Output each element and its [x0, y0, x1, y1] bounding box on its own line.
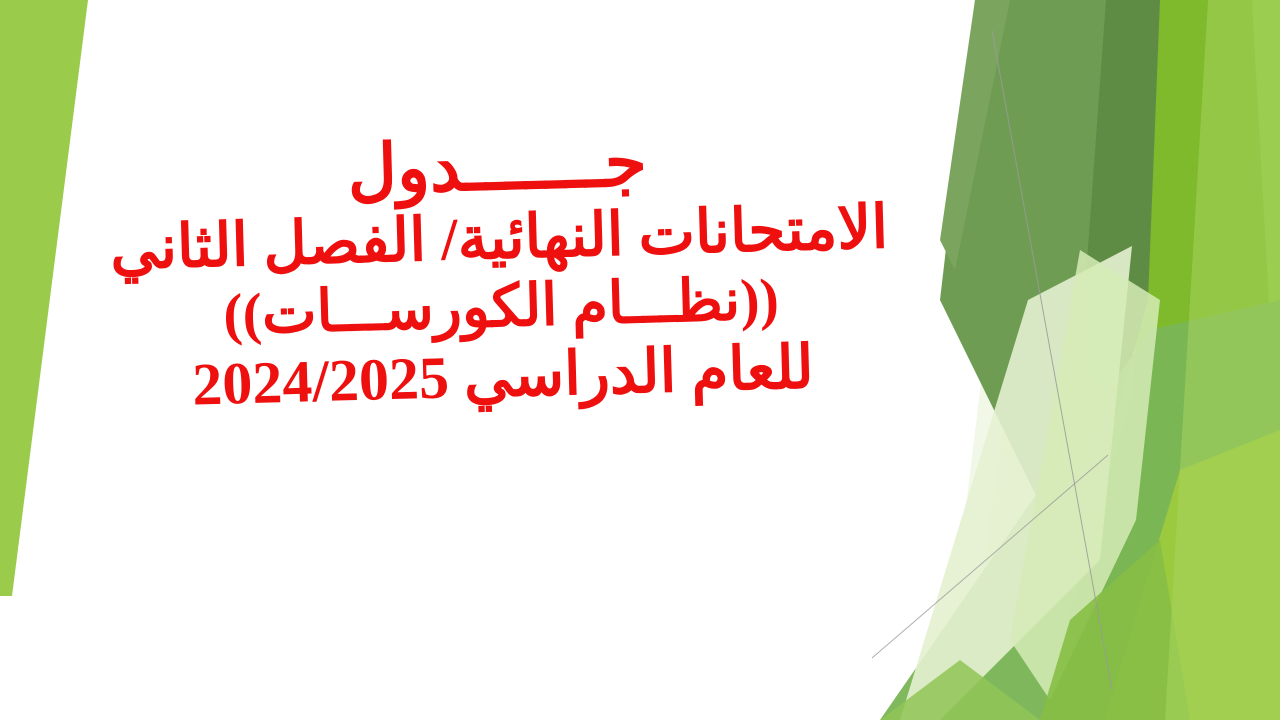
diagonal-hairline-steep	[992, 30, 1112, 690]
facet-right-veil	[1165, 0, 1280, 720]
slide-title-block: جـــــــدول الامتحانات النهائية/ الفصل ا…	[56, 120, 943, 418]
facet-dark-edge-sliver	[940, 0, 1010, 270]
facet-bottom-left-wash	[880, 660, 1040, 720]
facet-top-dark-wedge	[940, 0, 1160, 520]
diagonal-hairline-shallow	[872, 455, 1108, 658]
facet-bottom-mid-triangle	[1040, 540, 1190, 720]
presentation-slide: جـــــــدول الامتحانات النهائية/ الفصل ا…	[0, 0, 1280, 720]
facet-lower-right-light	[1040, 300, 1280, 720]
facet-pale-overlay-2	[1010, 250, 1160, 700]
facet-pale-wedge	[960, 60, 1280, 720]
facet-right-bright-band	[1190, 0, 1280, 720]
facet-deep-green-spike	[1082, 0, 1160, 430]
facet-lower-corner-accent	[1105, 430, 1280, 720]
facet-mid-bright-column	[1120, 0, 1280, 720]
facet-palest-backdrop	[940, 0, 1280, 720]
title-line-4: للعام الدراسي 2024/2025	[62, 334, 943, 419]
